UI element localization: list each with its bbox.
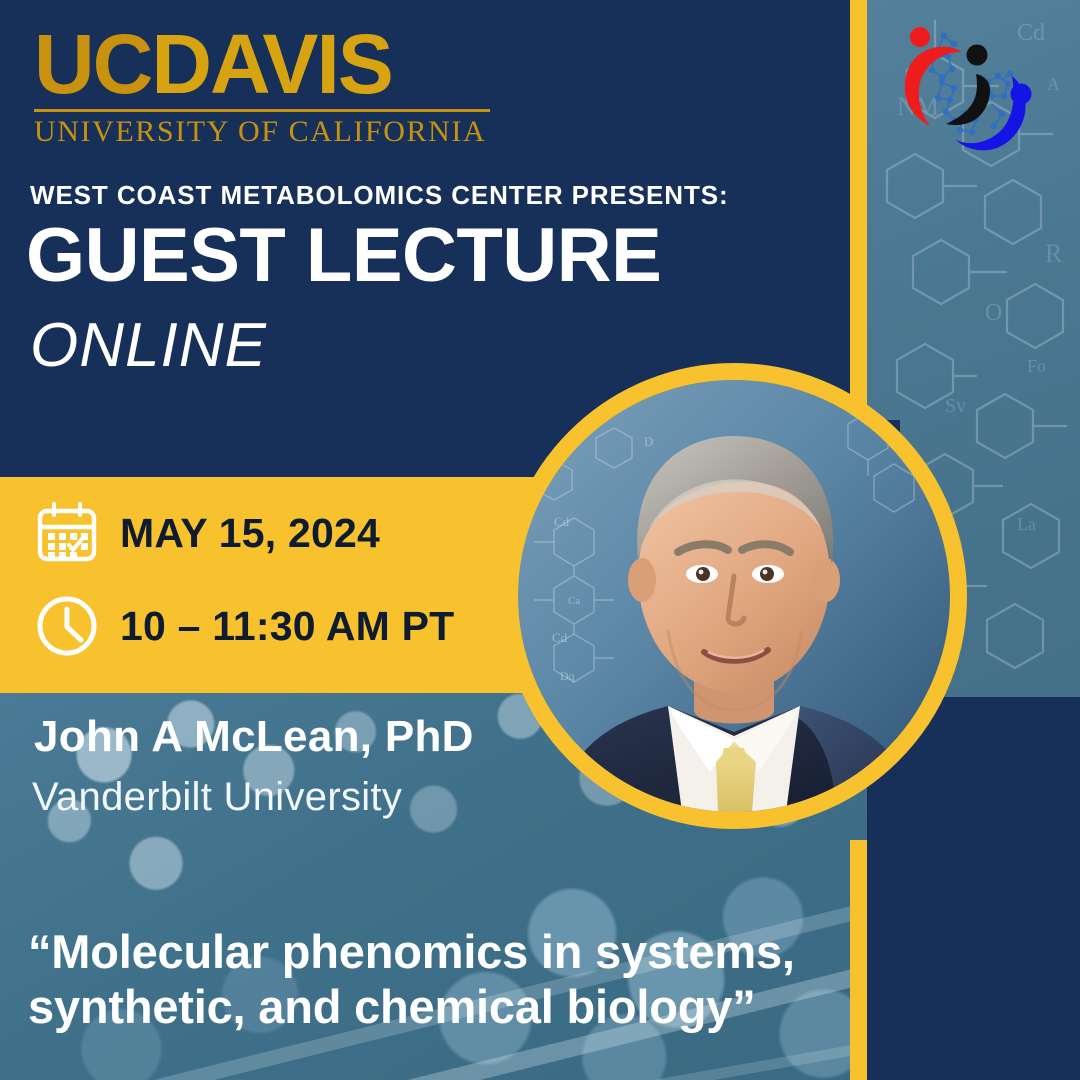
- event-poster: NM Cd R O Sv Fo A La Tr: [0, 0, 1080, 1080]
- uc-davis-wordmark-davis: DAVIS: [151, 17, 391, 111]
- svg-text:La: La: [1017, 514, 1036, 534]
- svg-text:R: R: [1045, 239, 1063, 268]
- west-coast-metabolomics-center-logo-icon: [884, 14, 1056, 186]
- speaker-portrait: Cd Ca Cd Dq D Ca: [501, 363, 967, 829]
- svg-text:Fo: Fo: [1027, 356, 1046, 376]
- event-time-row: 10 – 11:30 AM PT: [34, 593, 454, 659]
- calendar-icon: [34, 500, 100, 566]
- event-date-value: MAY 15, 2024: [120, 510, 380, 557]
- gold-divider-bottom: [850, 840, 867, 1080]
- event-time-value: 10 – 11:30 AM PT: [120, 603, 454, 650]
- speaker-name: John A McLean, PhD: [34, 712, 474, 762]
- page-title: GUEST LECTURE: [26, 218, 661, 294]
- event-date-row: MAY 15, 2024: [34, 500, 380, 566]
- uc-davis-wordmark: UCDAVIS: [34, 24, 504, 105]
- uc-davis-tagline: UNIVERSITY OF CALIFORNIA: [34, 115, 504, 148]
- uc-davis-wordmark-uc: UC: [34, 17, 151, 111]
- presenter-line: WEST COAST METABOLOMICS CENTER PRESENTS:: [30, 180, 729, 211]
- uc-davis-logo: UCDAVIS UNIVERSITY OF CALIFORNIA: [34, 24, 504, 148]
- talk-title: “Molecular phenomics in systems, synthet…: [28, 925, 838, 1035]
- clock-icon: [34, 593, 100, 659]
- speaker-affiliation: Vanderbilt University: [32, 775, 402, 820]
- portrait-gold-ring: [501, 363, 967, 829]
- svg-text:O: O: [985, 300, 1002, 326]
- page-subtitle: ONLINE: [30, 315, 267, 377]
